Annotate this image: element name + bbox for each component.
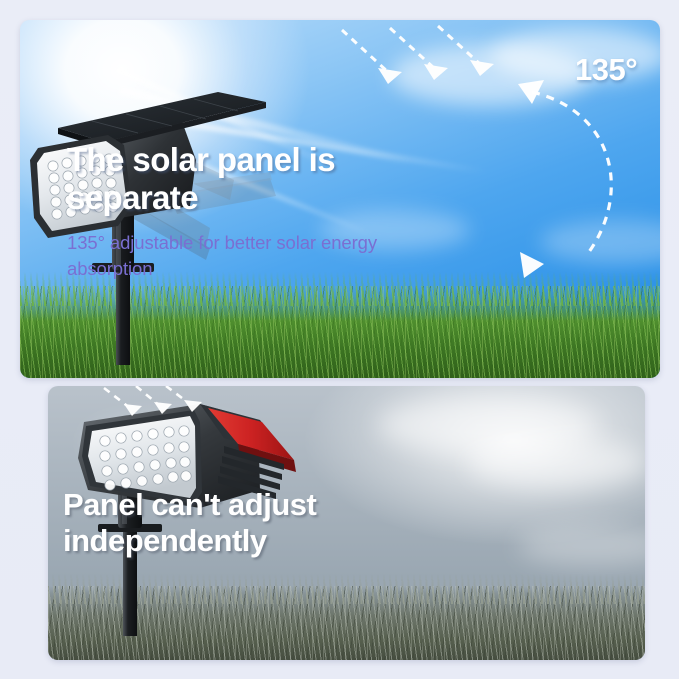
cloud [88, 420, 248, 464]
angle-label: 135° [575, 52, 637, 88]
bottom-grass-foreground [48, 586, 645, 660]
top-subhead: 135° adjustable for better solar energy … [67, 230, 387, 281]
top-headline: The solar panel is separate [67, 141, 397, 218]
infographic-page: The solar panel is separate 135° adjusta… [0, 0, 679, 679]
cloud [468, 438, 645, 488]
bottom-headline: Panel can't adjust independently [63, 487, 393, 560]
top-grass-foreground [20, 286, 660, 378]
top-comparison-card: The solar panel is separate 135° adjusta… [20, 20, 660, 378]
